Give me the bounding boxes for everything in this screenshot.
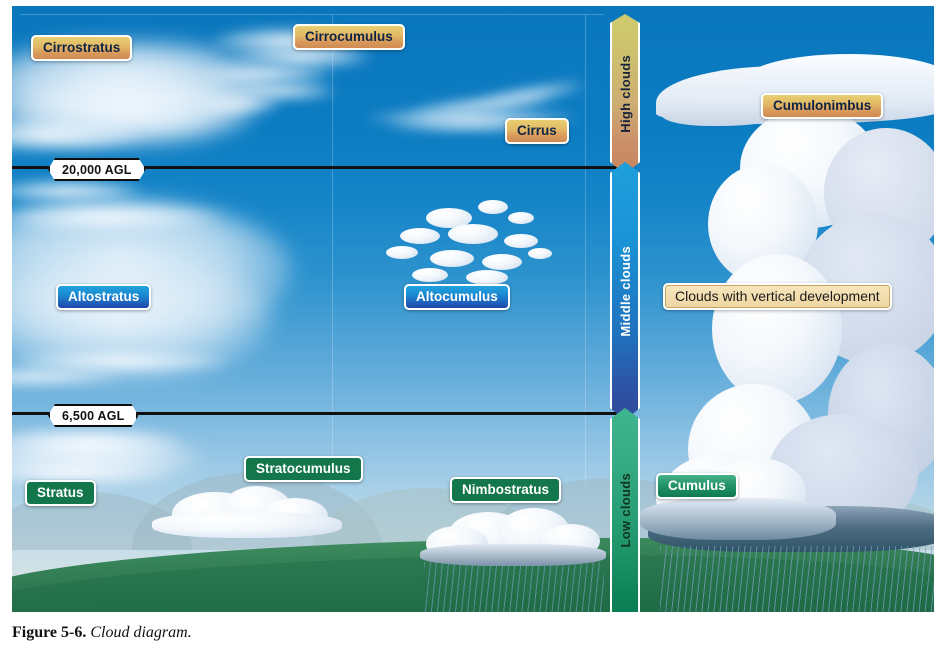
label-nimbostratus[interactable]: Nimbostratus: [450, 477, 561, 503]
label-cumulonimbus[interactable]: Cumulonimbus: [761, 93, 883, 119]
nimbostratus-rain: [424, 562, 604, 612]
label-cirrostratus-text: Cirrostratus: [43, 40, 120, 55]
label-cumulus[interactable]: Cumulus: [656, 473, 738, 499]
label-cumulus-text: Cumulus: [668, 478, 726, 493]
label-nimbostratus-text: Nimbostratus: [462, 482, 549, 497]
agl-marker-20000-label: 20,000 AGL: [62, 163, 132, 177]
altitude-band-low-label: Low clouds: [618, 473, 633, 548]
label-cirrostratus[interactable]: Cirrostratus: [31, 35, 132, 61]
label-cumulonimbus-text: Cumulonimbus: [773, 98, 871, 113]
label-vertical-development-text: Clouds with vertical development: [675, 288, 880, 304]
label-cirrocumulus-text: Cirrocumulus: [305, 29, 393, 44]
label-altocumulus-text: Altocumulus: [416, 289, 498, 304]
label-vertical-development[interactable]: Clouds with vertical development: [663, 283, 892, 310]
cloud-diagram: 20,000 AGL 6,500 AGL High clouds Middle …: [12, 6, 934, 612]
label-altostratus[interactable]: Altostratus: [56, 284, 151, 310]
agl-marker-20000: 20,000 AGL: [48, 158, 146, 181]
figure-caption-number: Figure 5-6.: [12, 624, 86, 641]
agl-marker-6500-label: 6,500 AGL: [62, 409, 124, 423]
figure-caption-title: Cloud diagram.: [90, 624, 191, 641]
label-altocumulus[interactable]: Altocumulus: [404, 284, 510, 310]
altitude-band-middle-label: Middle clouds: [618, 246, 633, 337]
label-stratus-text: Stratus: [37, 485, 84, 500]
label-stratocumulus[interactable]: Stratocumulus: [244, 456, 363, 482]
figure-container: 20,000 AGL 6,500 AGL High clouds Middle …: [0, 0, 940, 658]
altitude-band-high[interactable]: High clouds: [610, 14, 640, 174]
panel-guide-right: [585, 14, 586, 492]
panel-guide-left: [332, 14, 333, 492]
agl-marker-6500: 6,500 AGL: [48, 404, 138, 427]
altitude-band-low[interactable]: Low clouds: [610, 408, 640, 612]
label-cirrocumulus[interactable]: Cirrocumulus: [293, 24, 405, 50]
cumulonimbus-rain: [660, 546, 934, 612]
figure-caption: Figure 5-6. Cloud diagram.: [12, 624, 912, 642]
panel-guide-top: [20, 14, 604, 15]
label-cirrus[interactable]: Cirrus: [505, 118, 569, 144]
label-cirrus-text: Cirrus: [517, 123, 557, 138]
label-stratus[interactable]: Stratus: [25, 480, 96, 506]
label-stratocumulus-text: Stratocumulus: [256, 461, 351, 476]
altitude-band-middle[interactable]: Middle clouds: [610, 162, 640, 420]
altitude-band-high-label: High clouds: [618, 55, 633, 133]
label-altostratus-text: Altostratus: [68, 289, 139, 304]
